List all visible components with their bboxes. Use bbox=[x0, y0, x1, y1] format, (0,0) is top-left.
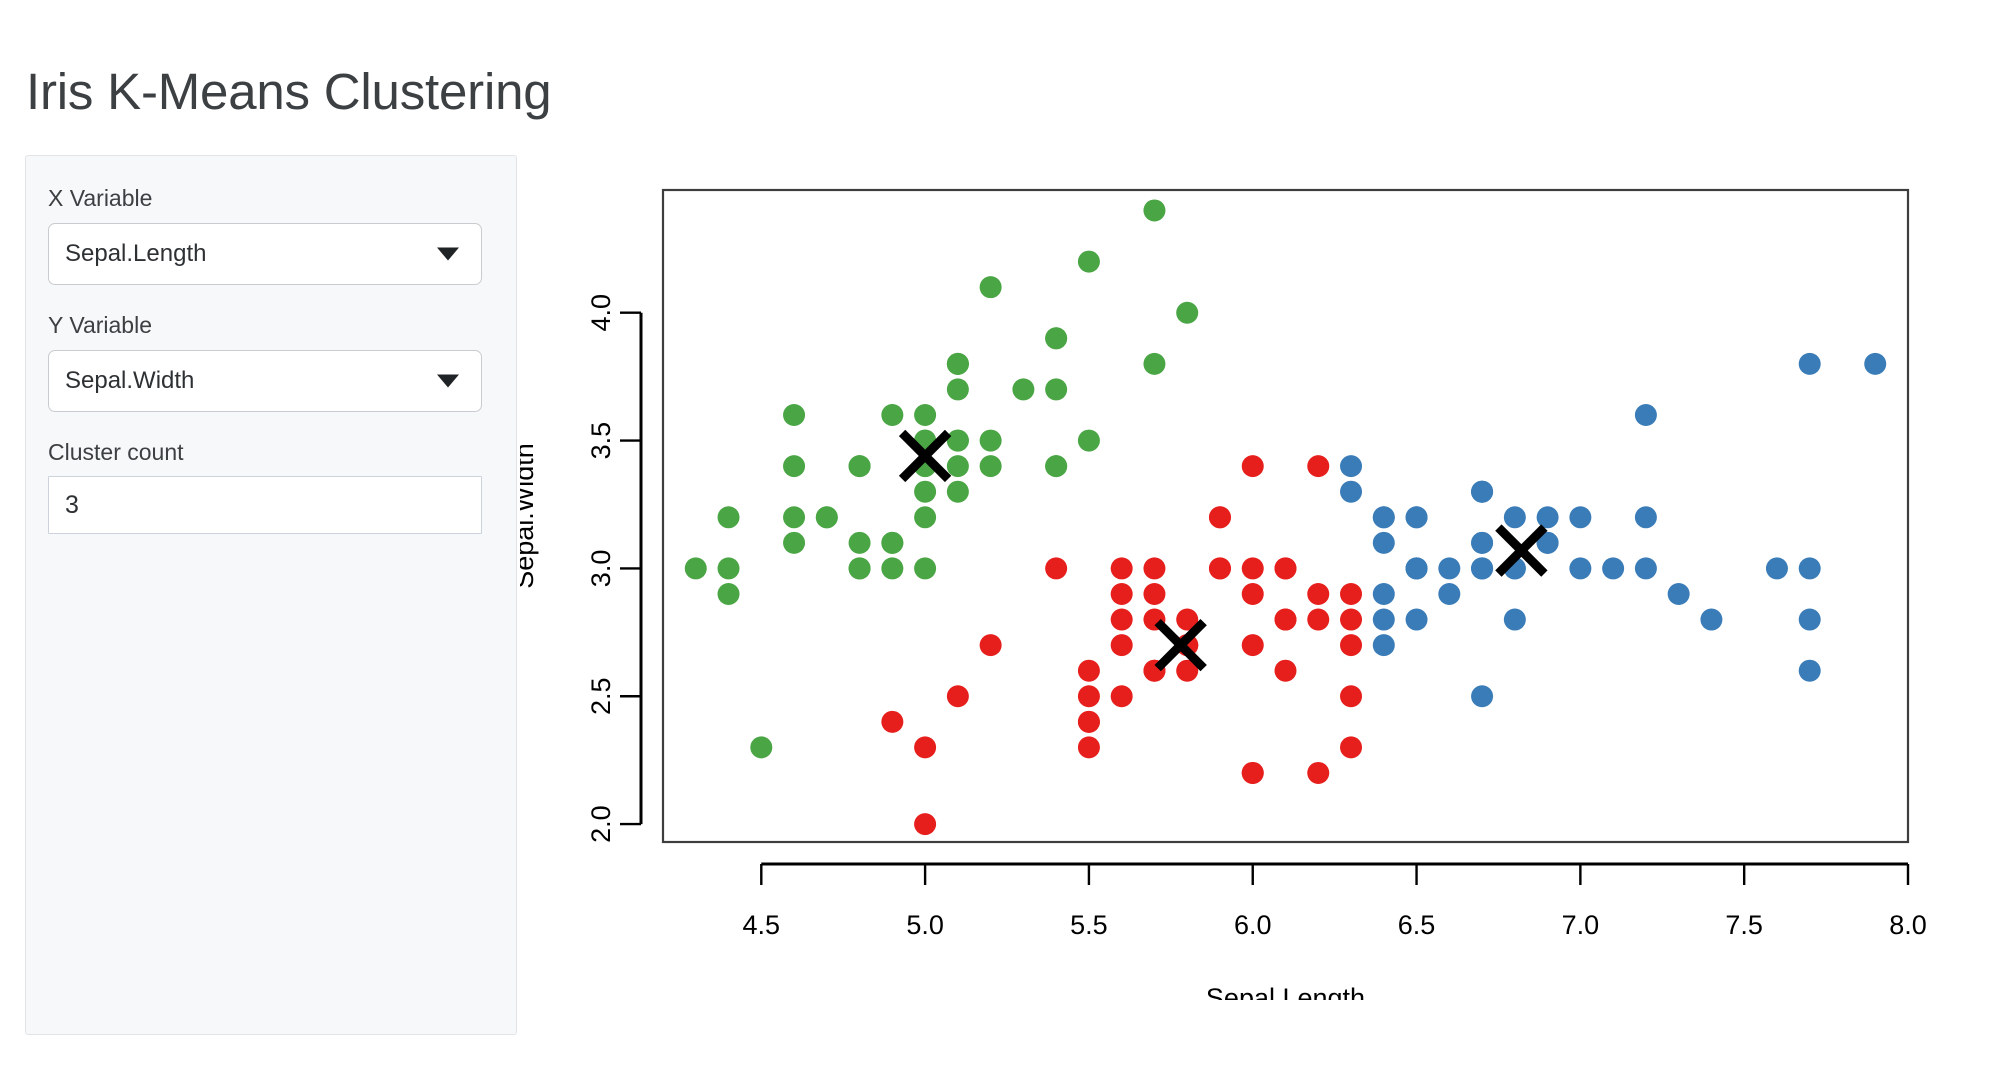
data-point bbox=[750, 736, 772, 758]
data-point bbox=[1143, 583, 1165, 605]
data-point bbox=[1471, 481, 1493, 503]
data-point bbox=[1635, 404, 1657, 426]
controls-sidebar: X Variable Sepal.Length Y Variable Sepal… bbox=[25, 155, 517, 1035]
data-point bbox=[1078, 711, 1100, 733]
data-point bbox=[1111, 583, 1133, 605]
cluster-count-field: Cluster count 3 bbox=[48, 438, 494, 535]
data-point bbox=[1799, 557, 1821, 579]
data-point bbox=[1471, 557, 1493, 579]
data-point bbox=[1045, 378, 1067, 400]
data-point bbox=[1406, 557, 1428, 579]
data-point bbox=[849, 532, 871, 554]
cluster-count-label: Cluster count bbox=[48, 438, 494, 467]
data-point bbox=[783, 404, 805, 426]
y-axis: 2.02.53.03.54.0 bbox=[586, 294, 641, 843]
data-point bbox=[1111, 634, 1133, 656]
data-point bbox=[1799, 660, 1821, 682]
data-point bbox=[1569, 557, 1591, 579]
svg-text:2.5: 2.5 bbox=[586, 677, 616, 715]
y-variable-label: Y Variable bbox=[48, 311, 494, 340]
data-point bbox=[1143, 557, 1165, 579]
data-point bbox=[1504, 506, 1526, 528]
scatter-plot-svg: 2.02.53.03.54.0 4.55.05.56.06.57.07.58.0… bbox=[520, 140, 1980, 1000]
data-point bbox=[914, 506, 936, 528]
data-point bbox=[1373, 634, 1395, 656]
data-point bbox=[980, 430, 1002, 452]
data-point bbox=[1438, 583, 1460, 605]
data-point bbox=[783, 532, 805, 554]
data-point bbox=[1471, 532, 1493, 554]
data-point bbox=[1176, 302, 1198, 324]
svg-text:5.5: 5.5 bbox=[1070, 910, 1108, 940]
data-point bbox=[1143, 353, 1165, 375]
data-point bbox=[1307, 609, 1329, 631]
data-point bbox=[849, 557, 871, 579]
data-point bbox=[1242, 583, 1264, 605]
data-point bbox=[914, 736, 936, 758]
data-point bbox=[1504, 609, 1526, 631]
data-point bbox=[1209, 557, 1231, 579]
svg-text:7.0: 7.0 bbox=[1562, 910, 1600, 940]
data-point bbox=[1143, 199, 1165, 221]
data-point bbox=[685, 557, 707, 579]
svg-text:6.0: 6.0 bbox=[1234, 910, 1272, 940]
svg-text:4.0: 4.0 bbox=[586, 294, 616, 332]
data-point bbox=[1340, 685, 1362, 707]
data-point bbox=[947, 430, 969, 452]
app-root: Iris K-Means Clustering X Variable Sepal… bbox=[0, 0, 1996, 1084]
data-point bbox=[1078, 251, 1100, 273]
data-point bbox=[1635, 557, 1657, 579]
data-point bbox=[1373, 506, 1395, 528]
data-point bbox=[1635, 506, 1657, 528]
data-point bbox=[1471, 685, 1493, 707]
data-point bbox=[1045, 327, 1067, 349]
y-variable-field: Y Variable Sepal.Width bbox=[48, 311, 494, 412]
data-point bbox=[1799, 609, 1821, 631]
data-point bbox=[1078, 685, 1100, 707]
chevron-down-icon bbox=[437, 247, 459, 260]
chevron-down-icon bbox=[437, 374, 459, 387]
data-point bbox=[1700, 609, 1722, 631]
svg-text:6.5: 6.5 bbox=[1398, 910, 1436, 940]
data-point bbox=[1275, 557, 1297, 579]
data-point bbox=[1537, 506, 1559, 528]
data-point bbox=[1340, 609, 1362, 631]
data-point bbox=[1242, 455, 1264, 477]
data-point bbox=[1340, 634, 1362, 656]
data-point bbox=[1045, 557, 1067, 579]
data-point bbox=[881, 711, 903, 733]
data-point bbox=[881, 404, 903, 426]
x-axis-title: Sepal.Length bbox=[1206, 983, 1365, 1000]
data-point bbox=[947, 353, 969, 375]
x-variable-label: X Variable bbox=[48, 184, 494, 213]
data-point bbox=[1078, 736, 1100, 758]
data-point bbox=[914, 481, 936, 503]
data-point bbox=[947, 481, 969, 503]
data-point bbox=[914, 404, 936, 426]
data-point bbox=[1045, 455, 1067, 477]
data-point bbox=[718, 583, 740, 605]
data-point bbox=[1111, 685, 1133, 707]
data-point bbox=[783, 455, 805, 477]
data-point bbox=[718, 506, 740, 528]
plot-frame bbox=[663, 190, 1908, 842]
data-point bbox=[783, 506, 805, 528]
data-point bbox=[1406, 609, 1428, 631]
svg-text:7.5: 7.5 bbox=[1725, 910, 1763, 940]
data-point bbox=[1340, 583, 1362, 605]
scatter-plot: 2.02.53.03.54.0 4.55.05.56.06.57.07.58.0… bbox=[520, 140, 1980, 1000]
data-point bbox=[1078, 660, 1100, 682]
data-point bbox=[1275, 609, 1297, 631]
data-point bbox=[1078, 430, 1100, 452]
data-point bbox=[1111, 557, 1133, 579]
y-variable-value: Sepal.Width bbox=[65, 369, 194, 393]
data-point bbox=[849, 455, 871, 477]
data-point bbox=[1242, 762, 1264, 784]
data-point bbox=[1438, 557, 1460, 579]
data-point bbox=[816, 506, 838, 528]
data-point bbox=[1373, 583, 1395, 605]
data-point bbox=[1340, 455, 1362, 477]
data-point bbox=[914, 813, 936, 835]
data-point bbox=[947, 455, 969, 477]
cluster-count-input[interactable]: 3 bbox=[48, 476, 482, 534]
x-variable-select[interactable]: Sepal.Length bbox=[48, 223, 482, 285]
data-point bbox=[1766, 557, 1788, 579]
data-point bbox=[1340, 736, 1362, 758]
data-point bbox=[1864, 353, 1886, 375]
x-variable-field: X Variable Sepal.Length bbox=[48, 184, 494, 285]
svg-text:4.5: 4.5 bbox=[743, 910, 781, 940]
page-title: Iris K-Means Clustering bbox=[26, 62, 551, 121]
data-point bbox=[1307, 762, 1329, 784]
svg-text:3.5: 3.5 bbox=[586, 422, 616, 460]
data-point bbox=[1307, 455, 1329, 477]
data-point bbox=[980, 634, 1002, 656]
data-point bbox=[1668, 583, 1690, 605]
data-point bbox=[1373, 532, 1395, 554]
data-point bbox=[947, 685, 969, 707]
data-point bbox=[1340, 481, 1362, 503]
y-variable-select[interactable]: Sepal.Width bbox=[48, 350, 482, 412]
data-point bbox=[980, 455, 1002, 477]
data-point bbox=[1242, 557, 1264, 579]
svg-text:5.0: 5.0 bbox=[906, 910, 944, 940]
data-point bbox=[1275, 660, 1297, 682]
data-point bbox=[1307, 583, 1329, 605]
data-point bbox=[914, 557, 936, 579]
data-point bbox=[1406, 506, 1428, 528]
data-point bbox=[1602, 557, 1624, 579]
data-point bbox=[1242, 634, 1264, 656]
data-point bbox=[1209, 506, 1231, 528]
data-point bbox=[980, 276, 1002, 298]
x-variable-value: Sepal.Length bbox=[65, 242, 206, 266]
data-point bbox=[1111, 609, 1133, 631]
svg-text:2.0: 2.0 bbox=[586, 805, 616, 843]
y-axis-title: Sepal.Width bbox=[520, 443, 539, 589]
data-point bbox=[947, 378, 969, 400]
svg-text:3.0: 3.0 bbox=[586, 550, 616, 588]
data-point bbox=[718, 557, 740, 579]
data-point bbox=[881, 557, 903, 579]
data-point bbox=[1569, 506, 1591, 528]
cluster-count-value: 3 bbox=[65, 493, 79, 518]
svg-text:8.0: 8.0 bbox=[1889, 910, 1927, 940]
data-point bbox=[881, 532, 903, 554]
data-point bbox=[1373, 609, 1395, 631]
x-axis: 4.55.05.56.06.57.07.58.0 bbox=[743, 864, 1927, 940]
data-point bbox=[1799, 353, 1821, 375]
data-point bbox=[1012, 378, 1034, 400]
